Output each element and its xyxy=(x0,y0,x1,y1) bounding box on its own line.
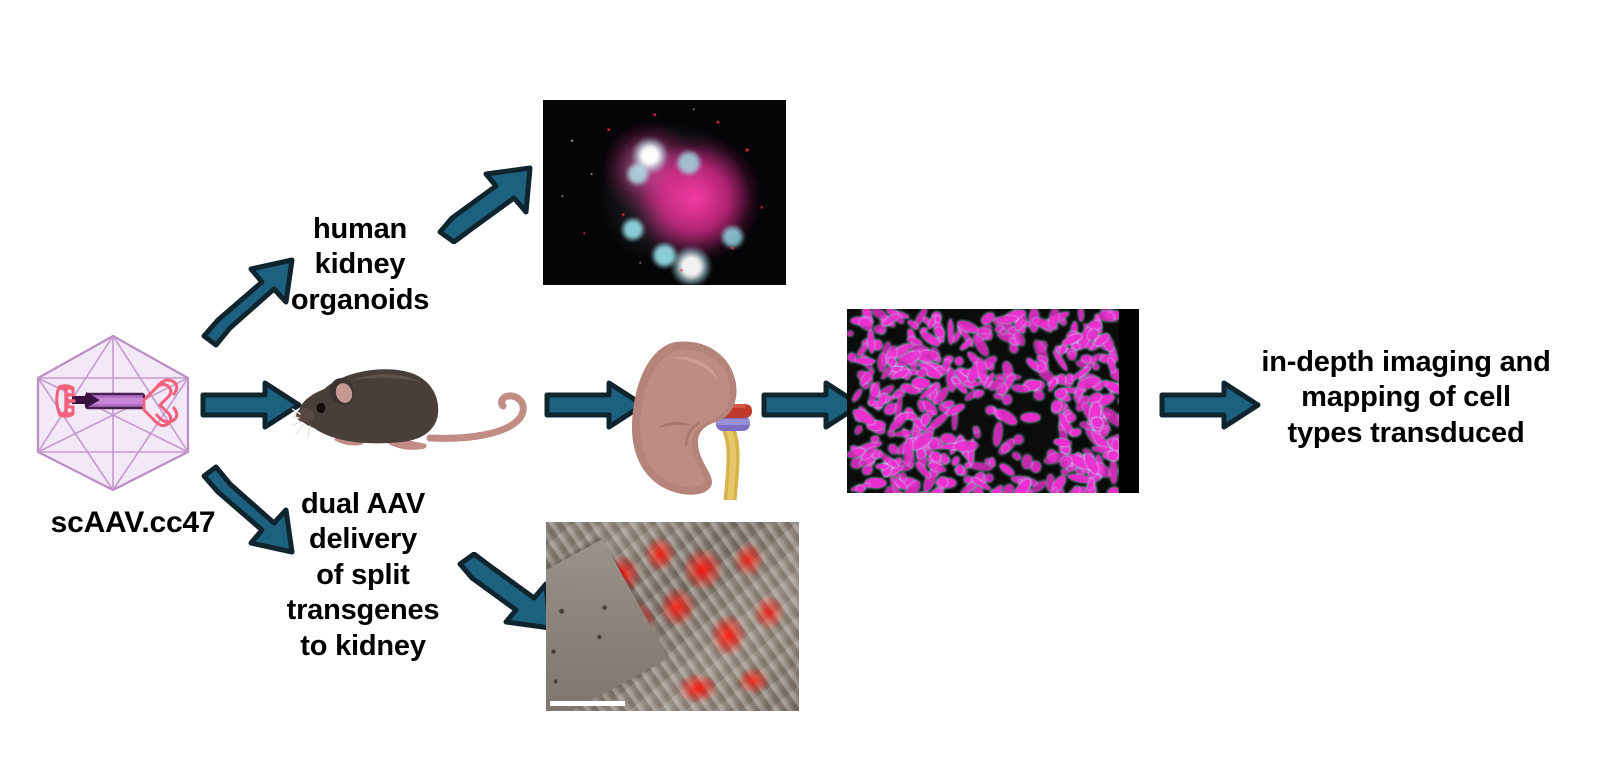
dual-aav-kidney-dic-micrograph xyxy=(546,522,799,711)
mouse-kidney-section-micrograph xyxy=(847,309,1139,493)
arrow-organoid-label-to-image xyxy=(432,162,544,244)
tubule-segment xyxy=(1070,428,1081,438)
kidney-illustration xyxy=(620,336,760,505)
tubule-segment xyxy=(997,315,1017,322)
tubule-segment xyxy=(954,440,979,451)
tubule-segment xyxy=(999,462,1015,477)
organoid-label: human kidney organoids xyxy=(272,212,448,318)
tubule-segment xyxy=(954,356,965,367)
tubule-segment xyxy=(948,320,954,345)
tubule-segment xyxy=(1068,352,1077,362)
tubule-segment xyxy=(1021,413,1040,422)
tubule-segment xyxy=(1011,451,1022,462)
tubule-segment xyxy=(856,485,864,492)
aav-capsid-icon xyxy=(28,330,198,495)
scale-bar xyxy=(550,701,625,706)
tubule-segment xyxy=(1093,363,1099,370)
figure-canvas: scAAV.cc47 human kidney organoids xyxy=(0,0,1600,763)
tubule-segment xyxy=(1110,459,1117,483)
tubule-segment xyxy=(1030,461,1041,473)
mouse-illustration xyxy=(292,352,538,473)
tubule-segment xyxy=(990,457,996,467)
tubule-segment xyxy=(877,354,885,372)
tubule-segment xyxy=(993,421,1004,446)
tubule-segment xyxy=(1001,394,1012,406)
tubule-segment xyxy=(984,474,993,482)
tubule-segment xyxy=(1033,390,1045,401)
tubule-segment xyxy=(858,316,875,332)
dual-aav-label: dual AAV delivery of split transgenes to… xyxy=(268,487,458,664)
tubule-segment xyxy=(851,388,863,402)
tubule-segment xyxy=(1021,454,1032,469)
human-kidney-organoid-micrograph xyxy=(543,100,786,285)
tubule-segment xyxy=(917,351,938,362)
tubule-segment xyxy=(854,425,864,436)
outcome-label: in-depth imaging and mapping of cell typ… xyxy=(1232,345,1580,451)
tubule-segment xyxy=(1054,438,1072,447)
tubule-segment xyxy=(867,329,875,353)
arrow-capsid-to-mouse xyxy=(199,379,303,431)
tubule-segment xyxy=(847,331,853,336)
tubule-segment xyxy=(1079,309,1084,322)
